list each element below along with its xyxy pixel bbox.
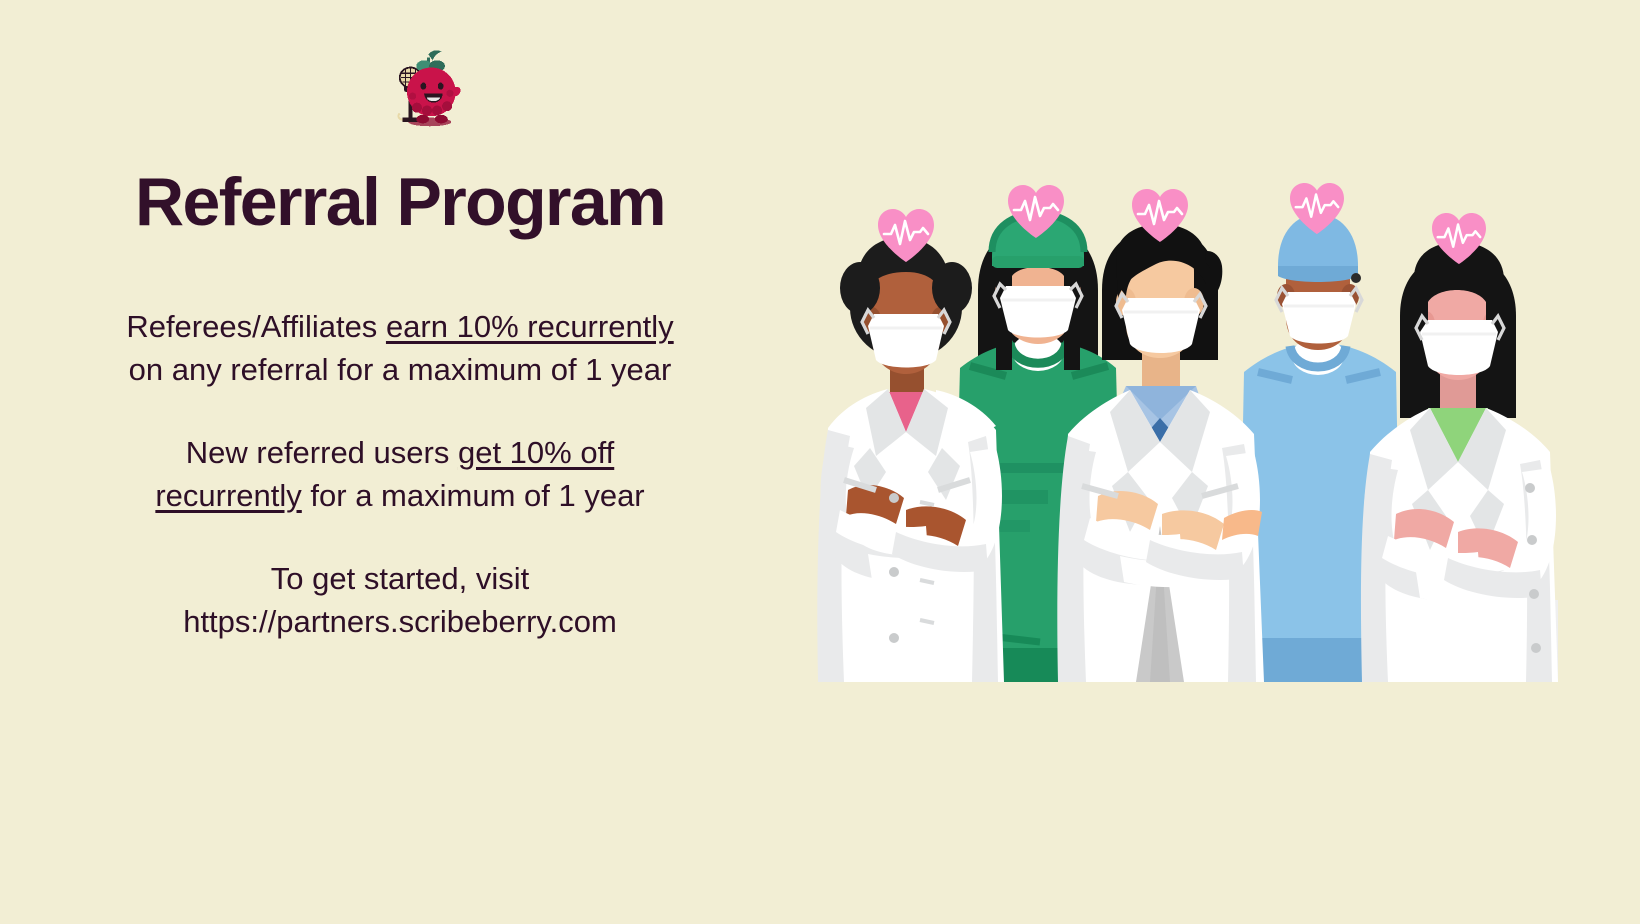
referral-program-slide: Referral Program Referees/Affiliates ear… — [0, 0, 1640, 924]
new-user-prefix: New referred users — [186, 435, 458, 470]
new-user-line-2: recurrently for a maximum of 1 year — [30, 475, 770, 518]
new-user-emphasis-1: get 10% off — [458, 435, 614, 470]
referral-benefit-affiliates: Referees/Affiliates earn 10% recurrently… — [30, 306, 770, 392]
call-to-action: To get started, visit https://partners.s… — [30, 558, 770, 644]
page-title: Referral Program — [0, 168, 800, 236]
cta-line-1: To get started, visit — [30, 558, 770, 601]
benefit-line-1: Referees/Affiliates earn 10% recurrently — [30, 306, 770, 349]
benefit-line-2: on any referral for a maximum of 1 year — [30, 349, 770, 392]
healthcare-team-illustration — [810, 180, 1570, 682]
new-user-line-1: New referred users get 10% off — [30, 432, 770, 475]
new-user-emphasis-2: recurrently — [155, 478, 301, 513]
partner-portal-url[interactable]: https://partners.scribeberry.com — [30, 601, 770, 644]
benefit-prefix: Referees/Affiliates — [126, 309, 386, 344]
raspberry-microphone-logo — [384, 46, 470, 132]
benefit-emphasis: earn 10% recurrently — [386, 309, 674, 344]
referral-benefit-new-users: New referred users get 10% off recurrent… — [30, 432, 770, 518]
new-user-suffix: for a maximum of 1 year — [302, 478, 645, 513]
left-content-column: Referral Program Referees/Affiliates ear… — [0, 0, 800, 924]
